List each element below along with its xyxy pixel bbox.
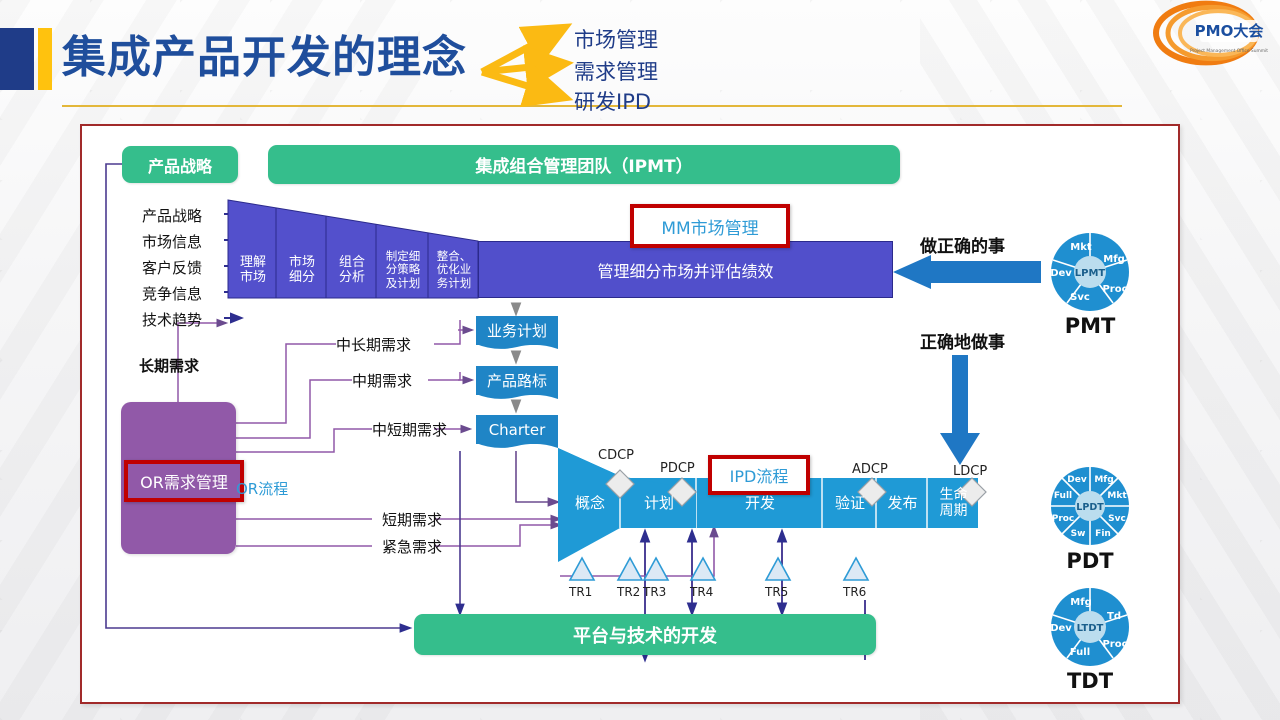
demand-label-0: 中长期需求 [336, 334, 411, 355]
pdt-wheel-name: PDT [1030, 549, 1150, 573]
tdt-wheel[interactable]: LTDT Mfg Td Proc Full Dev [1044, 587, 1136, 667]
tr5-triangle [766, 558, 790, 580]
tdt-seg-2: Proc [1102, 639, 1127, 650]
pdt-seg-5: Sw [1071, 529, 1086, 539]
adcp-diamond [858, 478, 886, 506]
cdcp-diamond [606, 470, 634, 498]
mm-input-label-3: 竞争信息 [142, 283, 202, 304]
ipmt-banner[interactable]: 集成组合管理团队（IPMT） [268, 145, 900, 184]
tdt-wheel-name: TDT [1030, 669, 1150, 693]
demand-label-3: 短期需求 [382, 509, 442, 530]
or-flow-label: OR流程 [236, 478, 288, 499]
mm-manage-bar[interactable]: 管理细分市场并评估绩效 [478, 241, 893, 298]
demand-label-2: 中短期需求 [372, 419, 447, 440]
pdt-seg-7: Full [1054, 491, 1072, 501]
dcp-label-3: LDCP [953, 464, 987, 479]
pdt-seg-4: Fin [1095, 529, 1111, 539]
do-right-things-arrow [893, 255, 1041, 291]
product-strategy-pill[interactable]: 产品战略 [122, 146, 238, 183]
tr2-triangle [618, 558, 642, 580]
tr1-triangle [570, 558, 594, 580]
dcp-label-2: ADCP [852, 462, 888, 477]
demand-label-1: 中期需求 [352, 370, 412, 391]
tdt-seg-3: Full [1070, 647, 1090, 658]
tr-label-5: TR6 [843, 585, 866, 599]
platform-tech-dev-bar[interactable]: 平台与技术的开发 [414, 614, 876, 655]
pmt-center-label: LPMT [1075, 268, 1106, 279]
product-roadmap-doc-wave [476, 394, 558, 402]
dcp-label-1: PDCP [660, 461, 695, 476]
pmt-seg-1: Mfg [1103, 254, 1124, 265]
tr-label-4: TR5 [765, 585, 788, 599]
pmt-wheel-name: PMT [1030, 314, 1150, 338]
pmt-seg-3: Svc [1070, 292, 1090, 303]
mm-funnel: 理解市场 市场细分 组合分析 制定细分策略及计划 整合、优化业务计划 管理细分市… [228, 196, 893, 306]
pdt-seg-0: Dev [1067, 475, 1087, 485]
pdt-seg-2: Mkt [1107, 491, 1127, 501]
tdt-seg-0: Mfg [1070, 597, 1091, 608]
tdt-seg-4: Dev [1050, 623, 1072, 634]
tr3-triangle [644, 558, 668, 580]
mm-input-label-4: 技术趋势 [142, 309, 202, 330]
pdt-seg-3: Svc [1108, 514, 1126, 524]
ipd-highlight-box[interactable]: IPD流程 [708, 455, 810, 495]
tr-label-0: TR1 [569, 585, 592, 599]
pdt-seg-1: Mfg [1094, 475, 1113, 485]
tdt-seg-1: Td [1107, 611, 1121, 622]
business-plan-doc[interactable]: 业务计划 [476, 316, 558, 345]
or-highlight-box[interactable]: OR需求管理 [124, 460, 244, 502]
pdt-center-label: LPDT [1076, 502, 1104, 513]
tr-label-2: TR3 [643, 585, 666, 599]
pdcp-diamond [668, 478, 696, 506]
charter-doc[interactable]: Charter [476, 415, 558, 444]
do-right-things-label: 做正确的事 [920, 232, 1005, 257]
pdt-wheel[interactable]: LPDT Dev Mfg Mkt Svc Fin Sw Proc Full [1044, 466, 1136, 546]
pmt-seg-4: Dev [1050, 268, 1072, 279]
tr6-triangle [844, 558, 868, 580]
dcp-label-0: CDCP [598, 448, 634, 463]
ldcp-diamond [958, 478, 986, 506]
mm-highlight-box[interactable]: MM市场管理 [630, 204, 790, 248]
pmt-seg-0: Mkt [1070, 242, 1092, 253]
product-roadmap-doc[interactable]: 产品路标 [476, 366, 558, 395]
mm-input-label-1: 市场信息 [142, 231, 202, 252]
ipd-tr-markers [570, 558, 900, 584]
do-things-right-label: 正确地做事 [920, 328, 1005, 353]
tr-label-3: TR4 [690, 585, 713, 599]
tdt-center-label: LTDT [1077, 623, 1104, 634]
mm-input-label-0: 产品战略 [142, 205, 202, 226]
demand-label-4: 紧急需求 [382, 536, 442, 557]
tr-label-1: TR2 [617, 585, 640, 599]
pmt-wheel[interactable]: LPMT Mkt Mfg Proc Svc Dev [1044, 232, 1136, 312]
long-term-demand-label: 长期需求 [139, 355, 199, 376]
business-plan-doc-wave [476, 344, 558, 352]
pmt-seg-2: Proc [1102, 284, 1127, 295]
pdt-seg-6: Proc [1052, 514, 1075, 524]
tr4-triangle [691, 558, 715, 580]
mm-input-label-2: 客户反馈 [142, 257, 202, 278]
